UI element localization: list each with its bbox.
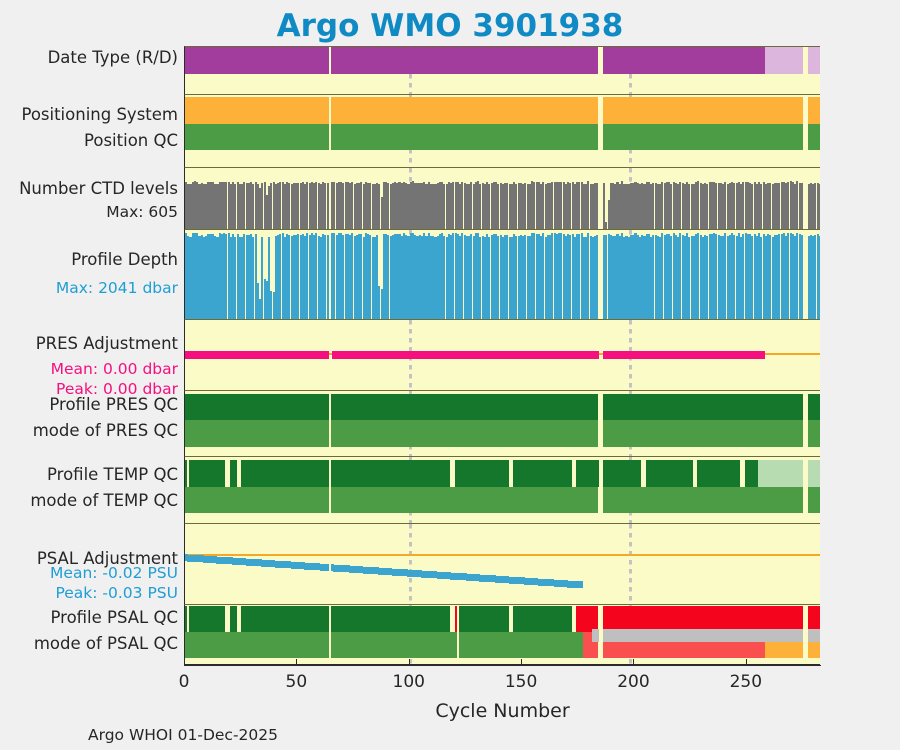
gridline-cycle-198 <box>629 524 632 604</box>
argo-float-summary-figure: Argo WMO 3901938 Date Type (R/D) Positio… <box>0 0 900 750</box>
x-axis-tick <box>746 659 747 665</box>
profile-psal-qc-bar <box>331 606 450 632</box>
panel-date-type <box>184 46 820 94</box>
profile-psal-qc-bar <box>189 606 225 632</box>
ctd-levels-bar <box>801 183 803 229</box>
panel-ctd-levels <box>184 167 820 229</box>
mode-temp-qc-bar <box>331 487 598 513</box>
panel-profile-depth <box>184 229 820 319</box>
label-profile-pres-qc: Profile PRES QC <box>49 395 178 415</box>
label-mode-psal-qc: mode of PSAL QC <box>34 634 178 654</box>
label-number-ctd-levels: Number CTD levels <box>19 179 178 199</box>
x-axis-tick-label: 50 <box>286 672 308 692</box>
psal-adjustment-line <box>327 564 330 571</box>
profile-psal-qc-bar <box>459 606 508 632</box>
ctd-levels-bar <box>327 183 329 229</box>
profile-depth-bar <box>327 235 329 319</box>
profile-depth-bar <box>819 236 820 319</box>
profile-pres-qc-bar <box>808 394 820 421</box>
panel-pres-adjustment <box>184 319 820 390</box>
profile-temp-qc-bar <box>331 460 450 486</box>
panel-psal-adjustment <box>184 523 820 604</box>
positioning-system-bar <box>808 97 820 124</box>
x-axis-tick-label: 100 <box>393 672 425 692</box>
psal-zero-reference-line <box>185 554 820 556</box>
profile-temp-qc-bar <box>241 460 329 486</box>
profile-depth-bar <box>801 235 803 319</box>
positioning-system-bar <box>331 97 598 124</box>
cycle-gap-separator <box>599 605 603 664</box>
profile-pres-qc-bar <box>185 394 329 421</box>
x-axis-tick-label: 200 <box>617 672 649 692</box>
profile-temp-qc-bar <box>576 460 598 486</box>
profile-temp-qc-bar <box>758 460 803 486</box>
label-positioning-system: Positioning System <box>21 105 178 125</box>
profile-temp-qc-bar <box>513 460 571 486</box>
mode-temp-qc-bar <box>185 487 329 513</box>
profile-psal-qc-bar <box>241 606 329 632</box>
label-psal-peak: Peak: -0.03 PSU <box>55 583 178 603</box>
panel-positioning <box>184 94 820 167</box>
position-qc-bar <box>331 124 598 151</box>
label-pres-adjustment: PRES Adjustment <box>36 334 178 354</box>
mode-pres-qc-bar <box>603 420 803 447</box>
x-axis-tick <box>409 659 410 665</box>
profile-temp-qc-bar <box>646 460 693 486</box>
x-axis-tick <box>296 659 297 665</box>
profile-temp-qc-bar <box>230 460 237 486</box>
date-type-bar <box>331 47 598 74</box>
x-axis-tick <box>184 659 185 665</box>
position-qc-bar <box>808 124 820 151</box>
date-type-bar <box>185 47 329 74</box>
mode-psal-qc-bar <box>185 632 329 658</box>
date-type-bar <box>765 47 803 74</box>
label-position-qc: Position QC <box>84 131 178 151</box>
profile-pres-qc-bar <box>603 394 803 421</box>
positioning-system-bar <box>603 97 803 124</box>
position-qc-bar <box>603 124 803 151</box>
panel-psal-qc <box>184 604 820 665</box>
profile-psal-qc-bar <box>576 606 583 632</box>
pres-adjustment-line <box>332 351 600 359</box>
pres-adjustment-line <box>185 351 329 359</box>
x-axis-tick-label: 250 <box>730 672 762 692</box>
mode-temp-qc-bar <box>603 487 803 513</box>
profile-temp-qc-bar <box>455 460 509 486</box>
positioning-system-bar <box>185 97 329 124</box>
profile-temp-qc-bar <box>697 460 740 486</box>
ctd-levels-bar <box>596 183 598 229</box>
profile-depth-bar <box>596 235 598 319</box>
label-depth-max: Max: 2041 dbar <box>56 278 178 298</box>
profile-psal-qc-bar <box>185 606 187 632</box>
pres-adjustment-line <box>603 351 764 359</box>
profile-temp-qc-bar <box>745 460 758 486</box>
mode-temp-qc-bar <box>808 487 820 513</box>
mode-pres-qc-bar <box>808 420 820 447</box>
profile-psal-qc-bar <box>455 606 457 632</box>
mode-psal-qc-bar <box>331 632 457 658</box>
x-axis-title: Cycle Number <box>184 700 821 722</box>
mode-psal-qc-bar <box>459 632 583 658</box>
mode-pres-qc-bar <box>185 420 329 447</box>
profile-temp-qc-bar <box>603 460 641 486</box>
date-type-bar <box>603 47 765 74</box>
psal-adjustment-line <box>581 581 584 588</box>
panel-temp-qc <box>184 456 820 523</box>
label-profile-psal-qc: Profile PSAL QC <box>50 608 178 628</box>
label-profile-depth: Profile Depth <box>71 250 178 270</box>
x-axis-tick-label: 150 <box>505 672 537 692</box>
profile-temp-qc-bar <box>185 460 187 486</box>
x-axis-tick-label: 0 <box>179 672 190 692</box>
cycle-gap-separator <box>803 605 807 664</box>
x-axis-line <box>184 665 821 666</box>
profile-psal-qc-bar <box>230 606 237 632</box>
gridline-cycle-100 <box>409 524 412 604</box>
mode-pres-qc-bar <box>331 420 598 447</box>
label-psal-mean: Mean: -0.02 PSU <box>50 563 178 583</box>
credit-text: Argo WHOI 01-Dec-2025 <box>88 726 278 744</box>
label-mode-temp-qc: mode of TEMP QC <box>30 491 178 511</box>
label-profile-temp-qc: Profile TEMP QC <box>47 465 178 485</box>
label-pres-mean: Mean: 0.00 dbar <box>51 359 178 379</box>
label-ctd-max: Max: 605 <box>106 202 178 222</box>
profile-temp-qc-bar <box>189 460 225 486</box>
position-qc-bar <box>185 124 329 151</box>
psal-qc-gray-band <box>592 629 820 642</box>
ctd-levels-bar <box>819 184 820 229</box>
date-type-bar <box>808 47 820 74</box>
label-mode-pres-qc: mode of PRES QC <box>33 421 178 441</box>
page-title: Argo WMO 3901938 <box>0 8 900 44</box>
profile-psal-qc-bar <box>513 606 571 632</box>
x-axis-tick <box>633 659 634 665</box>
x-axis-tick <box>521 659 522 665</box>
profile-temp-qc-bar <box>808 460 820 486</box>
panel-pres-qc <box>184 390 820 456</box>
profile-pres-qc-bar <box>331 394 598 421</box>
label-date-type: Date Type (R/D) <box>48 48 178 68</box>
